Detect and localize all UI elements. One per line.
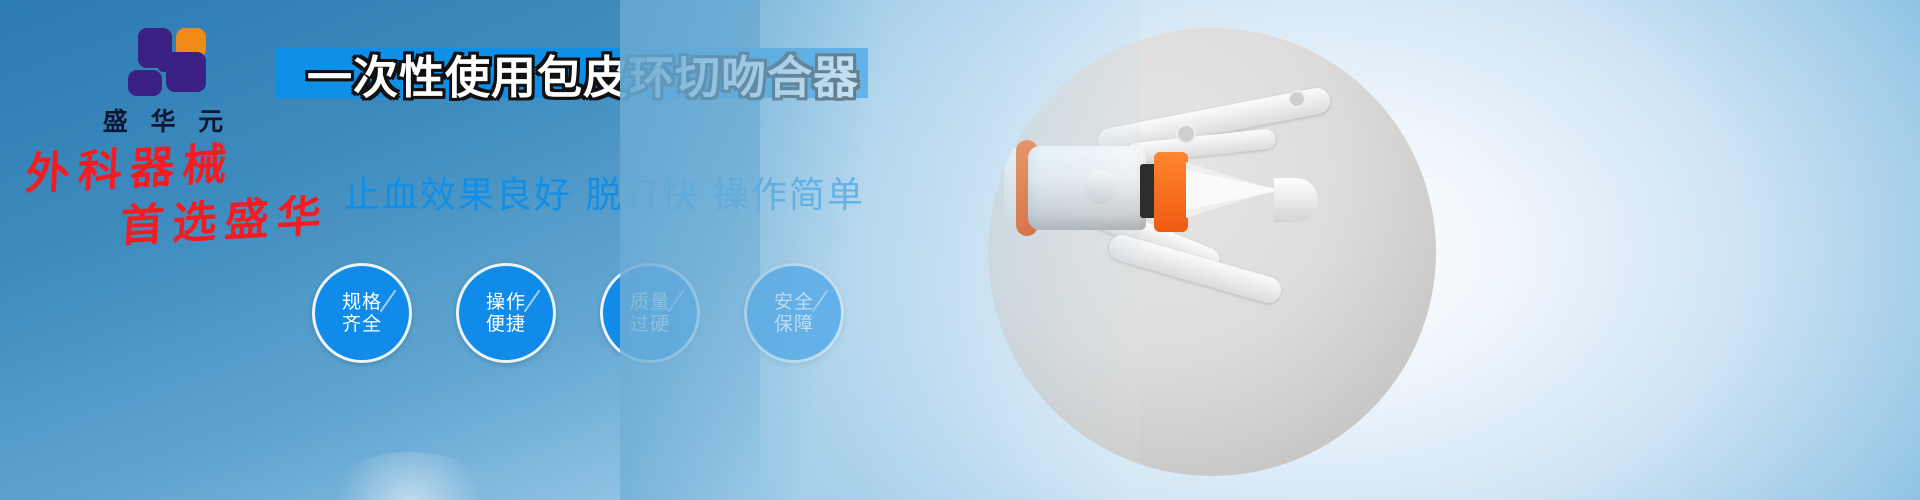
feature-badge-2[interactable]: 操作 便捷 (456, 263, 556, 363)
badge-slash-icon (812, 290, 829, 312)
badge-4-line-1: 安全 (774, 291, 814, 313)
badge-3-line-2: 过硬 (630, 313, 670, 335)
subtitle: 止血效果良好 脱钉快 操作简单 (344, 166, 865, 218)
device-orange-band (1154, 152, 1188, 232)
device-cone-inner (1186, 170, 1282, 210)
badge-3-line-1: 质量 (630, 291, 670, 313)
calligraphy-slogan: 外科器械 首选盛华 (0, 148, 366, 268)
badge-1-line-1: 规格 (342, 291, 382, 313)
device-hinge (1084, 170, 1118, 204)
feature-badge-3[interactable]: 质量 过硬 (600, 263, 700, 363)
device-tip (1274, 178, 1318, 222)
badge-slash-icon (380, 290, 397, 312)
device-end-cap (1004, 148, 1022, 226)
product-photo (988, 28, 1436, 476)
feature-badge-1[interactable]: 规格 齐全 (312, 263, 412, 363)
page-title: 一次性使用包皮环切吻合器 (288, 40, 878, 106)
squares-logo-icon (122, 26, 204, 98)
promo-banner: 盛 华 元 外科器械 首选盛华 一次性使用包皮环切吻合器 止血效果良好 脱钉快 … (0, 0, 1920, 500)
device-pivot-outer (1288, 90, 1306, 108)
brand-logo[interactable]: 盛 华 元 (78, 26, 248, 134)
device-barrel (1028, 146, 1146, 230)
logo-square-purple-left (128, 70, 162, 96)
brand-name: 盛 华 元 (78, 102, 248, 138)
device-orange-ring (1016, 140, 1038, 236)
logo-square-purple-right (166, 52, 206, 92)
badge-slash-icon (668, 290, 685, 312)
device-pivot-upper (1176, 124, 1196, 144)
decorative-glow (320, 452, 500, 500)
badge-slash-icon (524, 290, 541, 312)
calligraphy-line-1: 外科器械 (24, 143, 235, 198)
badge-1-line-2: 齐全 (342, 313, 382, 335)
calligraphy-line-2: 首选盛华 (119, 195, 330, 250)
badge-4-line-2: 保障 (774, 313, 814, 335)
feature-badge-list: 规格 齐全 操作 便捷 质量 过硬 安全 保障 (312, 263, 844, 363)
feature-badge-4[interactable]: 安全 保障 (744, 263, 844, 363)
badge-2-line-1: 操作 (486, 291, 526, 313)
logo-square-connector (158, 62, 170, 72)
badge-2-line-2: 便捷 (486, 313, 526, 335)
